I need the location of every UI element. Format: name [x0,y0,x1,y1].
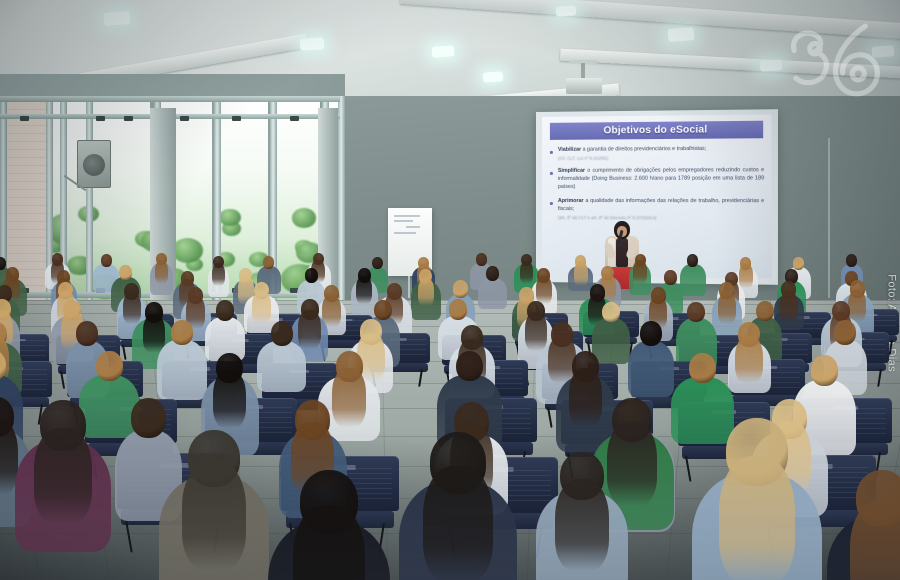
slide-bullet: Simplificar o cumprimento de obrigações … [549,167,764,192]
audience-member-head [96,351,123,382]
audience-member-head [449,299,467,320]
audience-member-head [834,320,856,345]
audience-member-hair [850,501,900,580]
audience-member-hair [525,312,547,351]
audience-member-head [305,268,318,283]
window-latch [232,116,241,121]
audience-member-torso [478,278,507,308]
tree-foliage [219,209,241,226]
audience-member-head [640,321,662,346]
audience-member-hair [574,262,588,286]
audience-member-hair [155,260,169,284]
ceiling-coffer [400,0,900,40]
ceiling-downlight [300,37,325,51]
ceiling-projector [566,78,602,94]
ceiling-downlight [432,45,455,58]
audience-member-head [374,300,392,321]
window-latch [290,116,299,121]
audience-member-hair [607,422,657,506]
audience-member-head [687,254,698,267]
audience-member-hair [423,466,492,580]
audience-member-head [756,301,774,322]
audience-member-head [689,353,716,384]
speaker-cone-icon [83,154,105,176]
audience-member-head [811,355,838,386]
window-latch [124,116,133,121]
ceiling-coffer [560,49,900,80]
audience-member-hair [213,370,246,428]
audience-member-head [216,300,234,321]
audience-member-hair [293,505,365,580]
audience-member-hair [212,263,226,287]
slide-title: Objetivos do eSocial [603,124,707,136]
slide-bullet-source: (CF, CLT, Lei nº 8.212/91) [558,155,764,163]
audience-member-torso [680,264,706,296]
ceiling-downlight [556,5,577,16]
audience-member-hair [555,479,610,571]
slide-bullet-text: Aprimorar a qualidade das informações da… [558,198,764,214]
audience-member-hair [718,292,737,324]
audience-member-head [453,280,468,297]
chair-leg [125,520,133,552]
window-latch [20,116,29,121]
ceiling-downlight [483,71,504,82]
slide-bullet-source: (art. 3º da CLT e art. 8º do Decreto nº … [558,215,764,222]
audience-member-head [476,253,487,266]
ceiling-downlight [668,27,695,42]
slide-bullet: Viabilizar a garantia de direitos previd… [549,145,764,162]
conference-photo: Objetivos do eSocial Viabilizar a garant… [0,0,900,580]
audience-member-head [664,270,677,285]
slide-bullet-text: Viabilizar a garantia de direitos previd… [558,145,764,154]
audience-member-head [372,257,383,270]
audience-member-head [171,320,193,345]
audience-member-head [456,351,483,382]
chair-leg [685,455,691,481]
audience-member-hair [739,264,753,288]
audience-member-hair [34,428,91,524]
audience-member-head [76,321,98,346]
audience-member-head [687,302,705,323]
wall-seam [828,138,830,298]
audience-member-hair [520,261,534,285]
chair-leg [889,340,893,355]
audience-member-hair [123,292,142,324]
flipchart-scribble [406,226,420,228]
flipchart-leg [408,276,410,298]
audience-member-hair [143,314,165,353]
audience-member-torso [592,318,629,364]
slide-bullet: Aprimorar a qualidade das informações da… [549,198,764,222]
window-transom [0,96,340,102]
audience-member-hair [332,368,365,426]
audience-member-torso [157,340,206,400]
audience-member-hair [633,260,647,284]
audience-member-hair [252,291,271,323]
audience-member-hair [298,310,320,349]
audience-member-torso [257,341,306,392]
audience-member-torso [671,377,734,444]
audience-member-hair [536,276,552,304]
presentation-slide: Objetivos do eSocial Viabilizar a garant… [542,114,772,278]
ceiling-downlight [104,11,131,26]
audience-member-hair [569,368,602,426]
audience-member-torso [628,341,675,397]
chair-leg [877,369,882,387]
audience-member-head [101,254,112,267]
audience-member-head [271,321,293,346]
audience-member-torso [79,375,140,438]
audience-member-head [263,256,274,269]
audience-member-hair [356,276,372,304]
wall-speaker [77,140,111,188]
tree-foliage [292,208,316,227]
projector-mount-stem [581,63,585,79]
audience-member-hair [719,456,796,580]
flipchart-scribble [394,232,416,234]
audience-member-head [602,302,620,323]
audience-member-hair [780,291,799,323]
ceiling-downlight [872,45,895,58]
flipchart-scribble [394,220,413,222]
audience-member-hair [735,336,762,384]
audience-member-head [486,266,499,281]
slide-title-bar: Objetivos do eSocial [550,121,763,140]
slide-bullet-text: Simplificar o cumprimento de obrigações … [558,167,764,192]
audience-member-hair [182,461,246,570]
ceiling-downlight [760,59,783,72]
flipchart-scribble [394,215,420,217]
audience-member-head [793,257,804,270]
audience-member-head [846,254,857,267]
audience-member-hair [418,278,434,306]
window-latch [96,116,105,121]
audience-member-head [131,398,166,438]
window-latch [180,116,189,121]
